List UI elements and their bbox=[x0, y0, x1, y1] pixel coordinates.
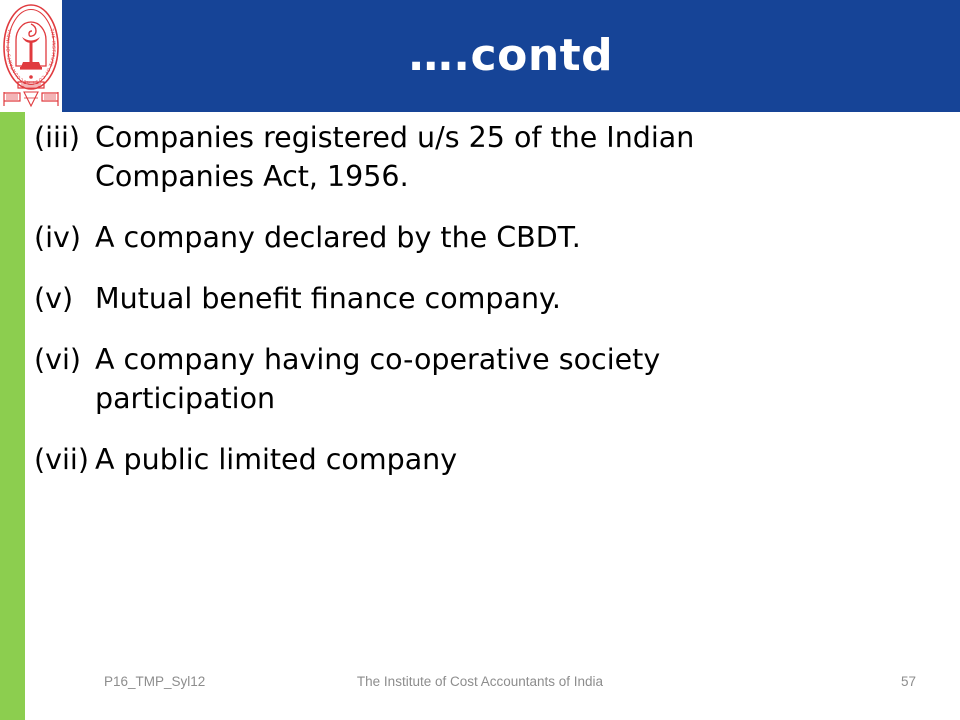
list-item-text: Companies registered u/s 25 of the India… bbox=[95, 118, 795, 196]
list-item-text: Mutual benefit finance company. bbox=[95, 279, 795, 318]
list-item-marker: (iii) bbox=[34, 118, 95, 157]
institute-logo-icon: THE INSTITUTE OF COST ACCOUNTANTS OF IND… bbox=[0, 0, 62, 112]
list-item: (v) Mutual benefit finance company. bbox=[34, 279, 914, 318]
presentation-slide: THE INSTITUTE OF COST ACCOUNTANTS OF IND… bbox=[0, 0, 960, 720]
list-item-text: A company having co-operative society pa… bbox=[95, 340, 795, 418]
left-accent-bar bbox=[0, 112, 25, 720]
page-title: ….contd bbox=[62, 0, 960, 112]
list-item-marker: (v) bbox=[34, 279, 95, 318]
footer-organization-name: The Institute of Cost Accountants of Ind… bbox=[0, 674, 960, 689]
list-item: (vii) A public limited company bbox=[34, 440, 914, 479]
slide-number: 57 bbox=[901, 674, 916, 689]
content-list: (iii) Companies registered u/s 25 of the… bbox=[34, 118, 914, 501]
list-item: (iii) Companies registered u/s 25 of the… bbox=[34, 118, 914, 196]
institute-logo: THE INSTITUTE OF COST ACCOUNTANTS OF IND… bbox=[0, 0, 62, 112]
list-item: (iv) A company declared by the CBDT. bbox=[34, 218, 914, 257]
slide-footer: P16_TMP_Syl12 The Institute of Cost Acco… bbox=[0, 674, 960, 702]
list-item-marker: (vi) bbox=[34, 340, 95, 379]
list-item-text: A public limited company bbox=[95, 440, 795, 479]
list-item-marker: (vii) bbox=[34, 440, 95, 479]
list-item: (vi) A company having co-operative socie… bbox=[34, 340, 914, 418]
list-item-marker: (iv) bbox=[34, 218, 95, 257]
list-item-text: A company declared by the CBDT. bbox=[95, 218, 795, 257]
